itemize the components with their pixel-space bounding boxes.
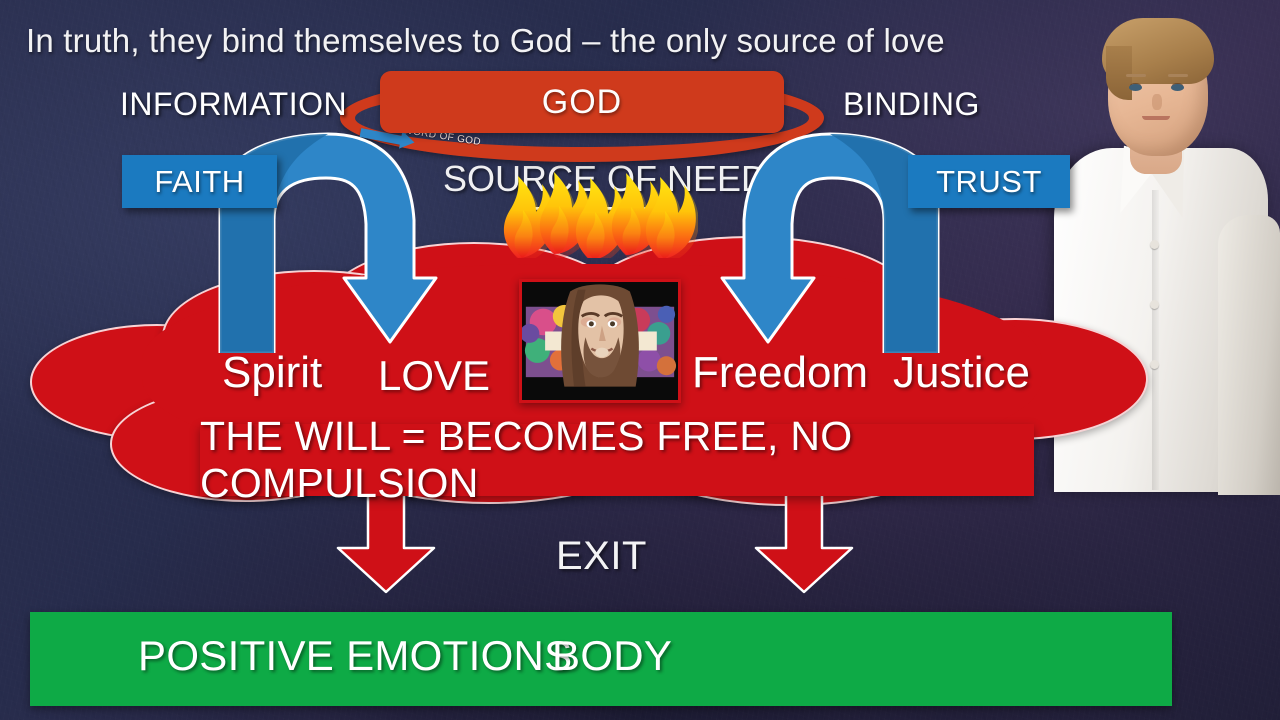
label-binding: BINDING (843, 86, 980, 123)
shirt-button (1150, 360, 1159, 369)
presenter-arm (1218, 215, 1280, 495)
box-trust[interactable]: TRUST (908, 155, 1070, 208)
box-faith-label: FAITH (154, 164, 244, 200)
box-trust-label: TRUST (936, 164, 1042, 200)
cloud-word-spirit: Spirit (222, 348, 322, 398)
god-box: GOD (380, 71, 784, 133)
cloud-word-love: LOVE (378, 352, 490, 400)
presenter-nose (1152, 94, 1162, 110)
presenter-hair (1102, 18, 1214, 84)
green-footer-bar: POSITIVE EMOTIONS BODY (30, 612, 1172, 706)
presenter-eye-right (1171, 84, 1184, 91)
cloud-word-freedom: Freedom (692, 348, 868, 398)
presenter-brow-right (1168, 74, 1188, 77)
shirt-button (1150, 300, 1159, 309)
presenter-brow-left (1126, 74, 1146, 77)
will-banner-label: THE WILL = BECOMES FREE, NO COMPULSION (200, 413, 1034, 507)
label-information: INFORMATION (120, 86, 347, 123)
exit-label: EXIT (556, 534, 647, 579)
footer-label-body: BODY (552, 632, 672, 680)
footer-label-positive-emotions: POSITIVE EMOTIONS (138, 632, 573, 680)
page-title: In truth, they bind themselves to God – … (26, 22, 1036, 60)
cloud-word-justice: Justice (893, 348, 1030, 398)
box-faith[interactable]: FAITH (122, 155, 277, 208)
shirt-button (1150, 240, 1159, 249)
presenter-placket (1152, 190, 1159, 490)
jesus-portrait-image (519, 279, 681, 403)
presenter-mouth (1142, 116, 1170, 120)
slide-canvas: In truth, they bind themselves to God – … (0, 0, 1280, 720)
will-banner: THE WILL = BECOMES FREE, NO COMPULSION (200, 424, 1034, 496)
god-label: GOD (542, 83, 622, 122)
presenter-eye-left (1129, 84, 1142, 91)
